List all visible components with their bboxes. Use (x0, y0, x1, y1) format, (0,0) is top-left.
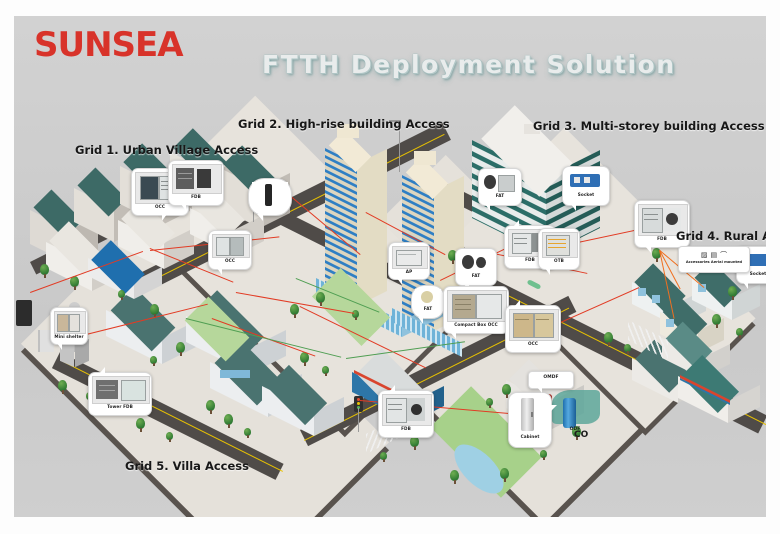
callout-tail (57, 343, 62, 350)
callout-label: FDB (172, 194, 220, 200)
accessories-legend-box[interactable]: ▨ ▤ ⌒ Accessories Aerial mounted (678, 246, 750, 273)
callout-label: FAT (482, 193, 518, 199)
tree (736, 328, 743, 338)
tree (322, 366, 329, 376)
clamp-icon: ▨ (701, 251, 708, 259)
callout-device-black[interactable] (248, 178, 292, 216)
callout-thumbnail (54, 311, 86, 334)
grid-label-1: Grid 1. Urban Village Access (75, 143, 258, 157)
callout-label: AP (392, 269, 426, 275)
tree (624, 344, 631, 354)
hook-icon: ⌒ (720, 250, 727, 260)
callout-tail (537, 387, 542, 393)
callout-thumbnail (509, 309, 559, 341)
tower-left-face-right (357, 149, 387, 306)
callout-thumbnail (212, 234, 250, 258)
callout-thumbnail (542, 232, 578, 258)
tree (380, 452, 387, 462)
poster-frame-left (0, 0, 14, 534)
callout-fat-tower[interactable]: FAT (411, 285, 445, 319)
callout-label: Compact Box OCC (447, 322, 505, 328)
callout-tail (743, 282, 748, 289)
callout-label: OMDF (531, 373, 571, 383)
callout-occ-center[interactable]: OCC (505, 305, 561, 353)
tree (500, 468, 509, 482)
tower-right-penthouse (414, 151, 436, 165)
callout-tail (514, 300, 520, 307)
callout-tail (513, 220, 519, 227)
callout-fdb-villa[interactable]: FDB (378, 390, 434, 438)
ftth-deployment-poster: OCC FDB OCC Mini shelter (0, 0, 780, 534)
callout-label: FDB (382, 426, 430, 432)
callout-label: FAT (415, 306, 441, 312)
callout-thumbnail (459, 252, 493, 273)
tree (486, 398, 493, 408)
callout-thumbnail (512, 396, 548, 434)
callout-thumbnail (252, 182, 288, 208)
callout-label: FAT (459, 273, 493, 279)
grid-label-3: Grid 3. Multi-storey building Access (533, 119, 765, 133)
tree (728, 286, 737, 300)
callout-thumbnail (415, 289, 441, 306)
callout-tail (99, 367, 105, 374)
tree (40, 264, 49, 278)
tree (58, 380, 67, 394)
callout-mini-shelter[interactable]: Mini shelter (50, 307, 88, 345)
callout-label: Tower FDB (92, 404, 148, 410)
callout-thumbnail (172, 164, 222, 194)
callout-tail (257, 214, 263, 221)
callout-tail (389, 385, 395, 392)
tree (712, 314, 721, 328)
poster-frame-top (0, 0, 780, 16)
callout-label: Mini shelter (54, 334, 84, 340)
grid-label-4: Grid 4. Rural Access (676, 229, 780, 243)
grid-label-5: Grid 5. Villa Access (125, 459, 249, 473)
tree (224, 414, 233, 428)
callout-tail (645, 246, 651, 253)
callout-label: OCC (212, 258, 248, 264)
tree (290, 304, 299, 318)
accessories-legend-caption: Accessories Aerial mounted (682, 260, 746, 265)
tree (136, 418, 145, 432)
callout-socket-multistorey[interactable]: Socket (562, 166, 610, 206)
callout-thumbnail (482, 172, 518, 193)
bracket-icon: ▤ (711, 251, 718, 259)
callout-fat-highrise[interactable]: FAT (455, 248, 497, 286)
callout-tail (485, 204, 490, 211)
tree (352, 310, 359, 320)
poster-frame-bottom (0, 517, 780, 534)
callout-cabinet[interactable]: Cabinet (508, 392, 552, 448)
tree (206, 400, 215, 414)
callout-omdf[interactable]: OMDF (528, 371, 574, 389)
callout-tail (550, 405, 557, 412)
callout-label: Cabinet (512, 434, 548, 440)
logo-wordmark: SUNSEA (34, 28, 183, 62)
callout-tail (162, 214, 167, 221)
callout-tail (545, 268, 550, 275)
tree (450, 470, 459, 484)
callout-occ-street[interactable]: OCC (208, 230, 252, 270)
callout-fat-multistorey[interactable]: FAT (478, 168, 522, 206)
co-label: CO (574, 430, 588, 440)
callout-thumbnail (92, 376, 150, 404)
callout-thumbnail (392, 246, 428, 269)
callout-tail (418, 317, 423, 324)
callout-label: Socket (566, 192, 606, 198)
tree (604, 332, 613, 346)
tree (316, 292, 325, 306)
callout-tail (181, 204, 186, 211)
callout-thumbnail (566, 170, 606, 192)
callout-thumbnail (382, 394, 432, 426)
callout-label: OCC (509, 341, 557, 347)
callout-compact-box-occ[interactable]: Compact Box OCC (443, 286, 509, 334)
callout-fdb-village[interactable]: FDB (168, 160, 224, 206)
tree (118, 290, 125, 300)
callout-tail (397, 278, 402, 285)
tree (244, 428, 251, 438)
sunsea-logo: SUNSEA (34, 28, 183, 62)
street-billboard (16, 300, 32, 326)
tree (150, 356, 157, 366)
callout-tower-fdb[interactable]: Tower FDB (88, 372, 152, 416)
poster-frame-right (766, 0, 780, 534)
grid-label-2: Grid 2. High-rise building Access (238, 117, 450, 131)
callout-tail (450, 332, 456, 339)
tree (540, 450, 547, 460)
co-teal-canopy (552, 390, 600, 424)
callout-tail (571, 204, 576, 211)
callout-label: OTB (542, 258, 576, 264)
tree (166, 432, 173, 442)
tree (410, 436, 419, 450)
callout-tail (217, 268, 222, 275)
callout-otb-multistorey[interactable]: OTB (538, 228, 580, 270)
callout-thumbnail (447, 290, 507, 322)
tree (176, 342, 185, 356)
page-title: FTTH Deployment Solution (262, 50, 676, 79)
accessory-icons-row: ▨ ▤ ⌒ (682, 249, 746, 260)
callout-ap-highrise[interactable]: AP (388, 242, 430, 280)
